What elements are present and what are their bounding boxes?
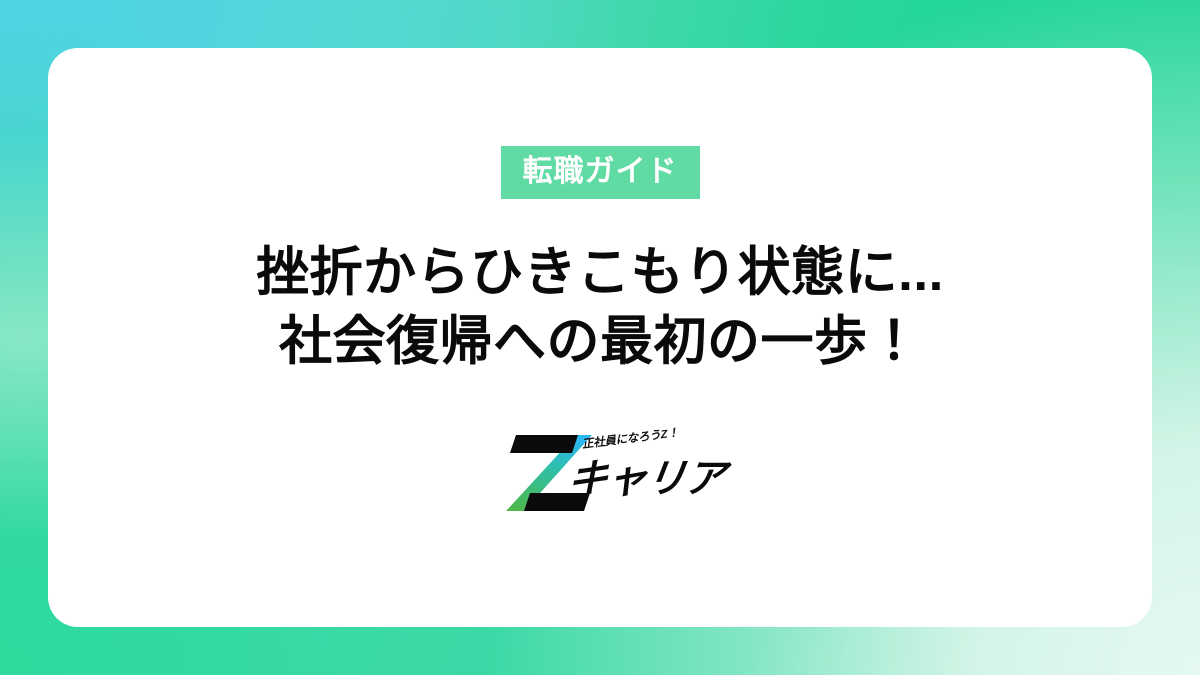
headline-line-2: 社会復帰への最初の一歩！ xyxy=(256,308,944,377)
logo-wordmark: キャリア xyxy=(565,459,727,499)
page-title: 挫折からひきこもり状態に... 社会復帰への最初の一歩！ xyxy=(256,239,944,377)
brand-logo: 正社員になろうZ！ キャリア xyxy=(500,429,700,515)
content-card: 転職ガイド 挫折からひきこもり状態に... 社会復帰への最初の一歩！ xyxy=(48,48,1152,627)
background-canvas: 転職ガイド 挫折からひきこもり状態に... 社会復帰への最初の一歩！ xyxy=(0,0,1200,675)
logo-tagline: 正社員になろうZ！ xyxy=(581,424,679,452)
headline-line-1: 挫折からひきこもり状態に... xyxy=(256,239,944,308)
category-badge: 転職ガイド xyxy=(501,146,700,199)
